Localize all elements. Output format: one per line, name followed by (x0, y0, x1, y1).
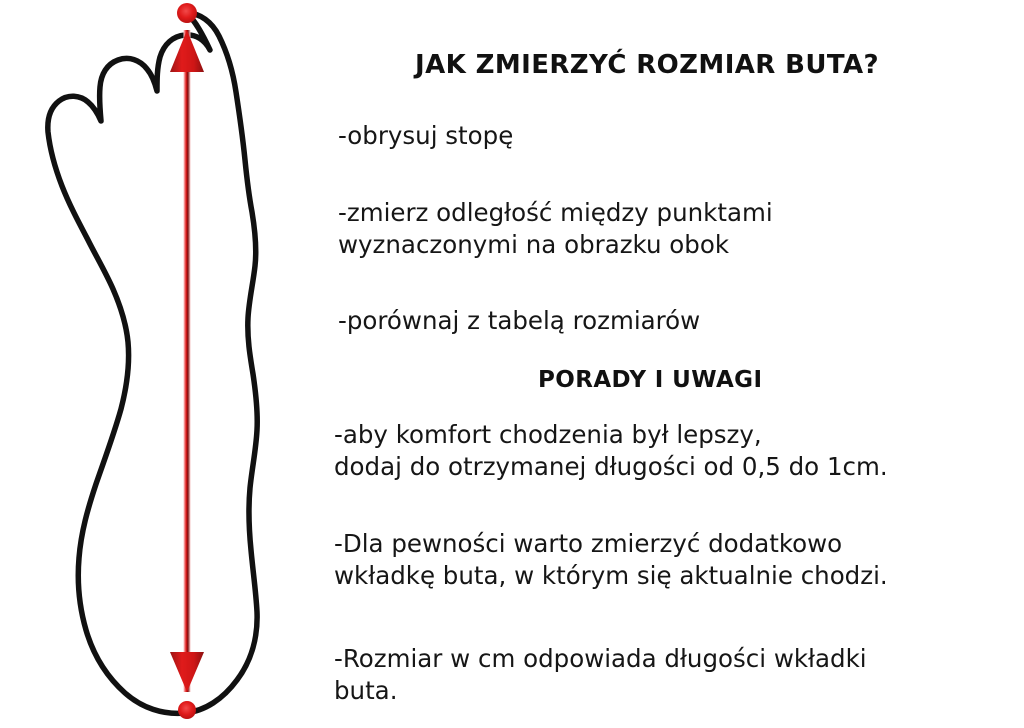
tip-insole: -Dla pewności warto zmierzyć dodatkowo w… (334, 528, 888, 592)
tip-comfort: -aby komfort chodzenia był lepszy, dodaj… (334, 419, 888, 483)
toe-point-marker (177, 3, 197, 23)
step-outline: -obrysuj stopę (338, 120, 513, 152)
instructions-panel: JAK ZMIERZYĆ ROZMIAR BUTA? -obrysuj stop… (330, 0, 1024, 728)
foot-outline-path (48, 13, 257, 713)
foot-diagram-panel (0, 0, 330, 728)
measure-arrow-shaft (184, 30, 191, 692)
step-measure: -zmierz odległość między punktami wyznac… (338, 197, 773, 261)
foot-outline-diagram (0, 0, 330, 728)
shoe-size-measuring-infographic: JAK ZMIERZYĆ ROZMIAR BUTA? -obrysuj stop… (0, 0, 1024, 728)
step-compare: -porównaj z tabelą rozmiarów (338, 305, 700, 337)
tip-size: -Rozmiar w cm odpowiada długości wkładki… (334, 643, 867, 707)
heel-point-marker (178, 701, 196, 719)
tips-section-title: PORADY I UWAGI (538, 367, 762, 393)
page-title: JAK ZMIERZYĆ ROZMIAR BUTA? (415, 50, 879, 80)
